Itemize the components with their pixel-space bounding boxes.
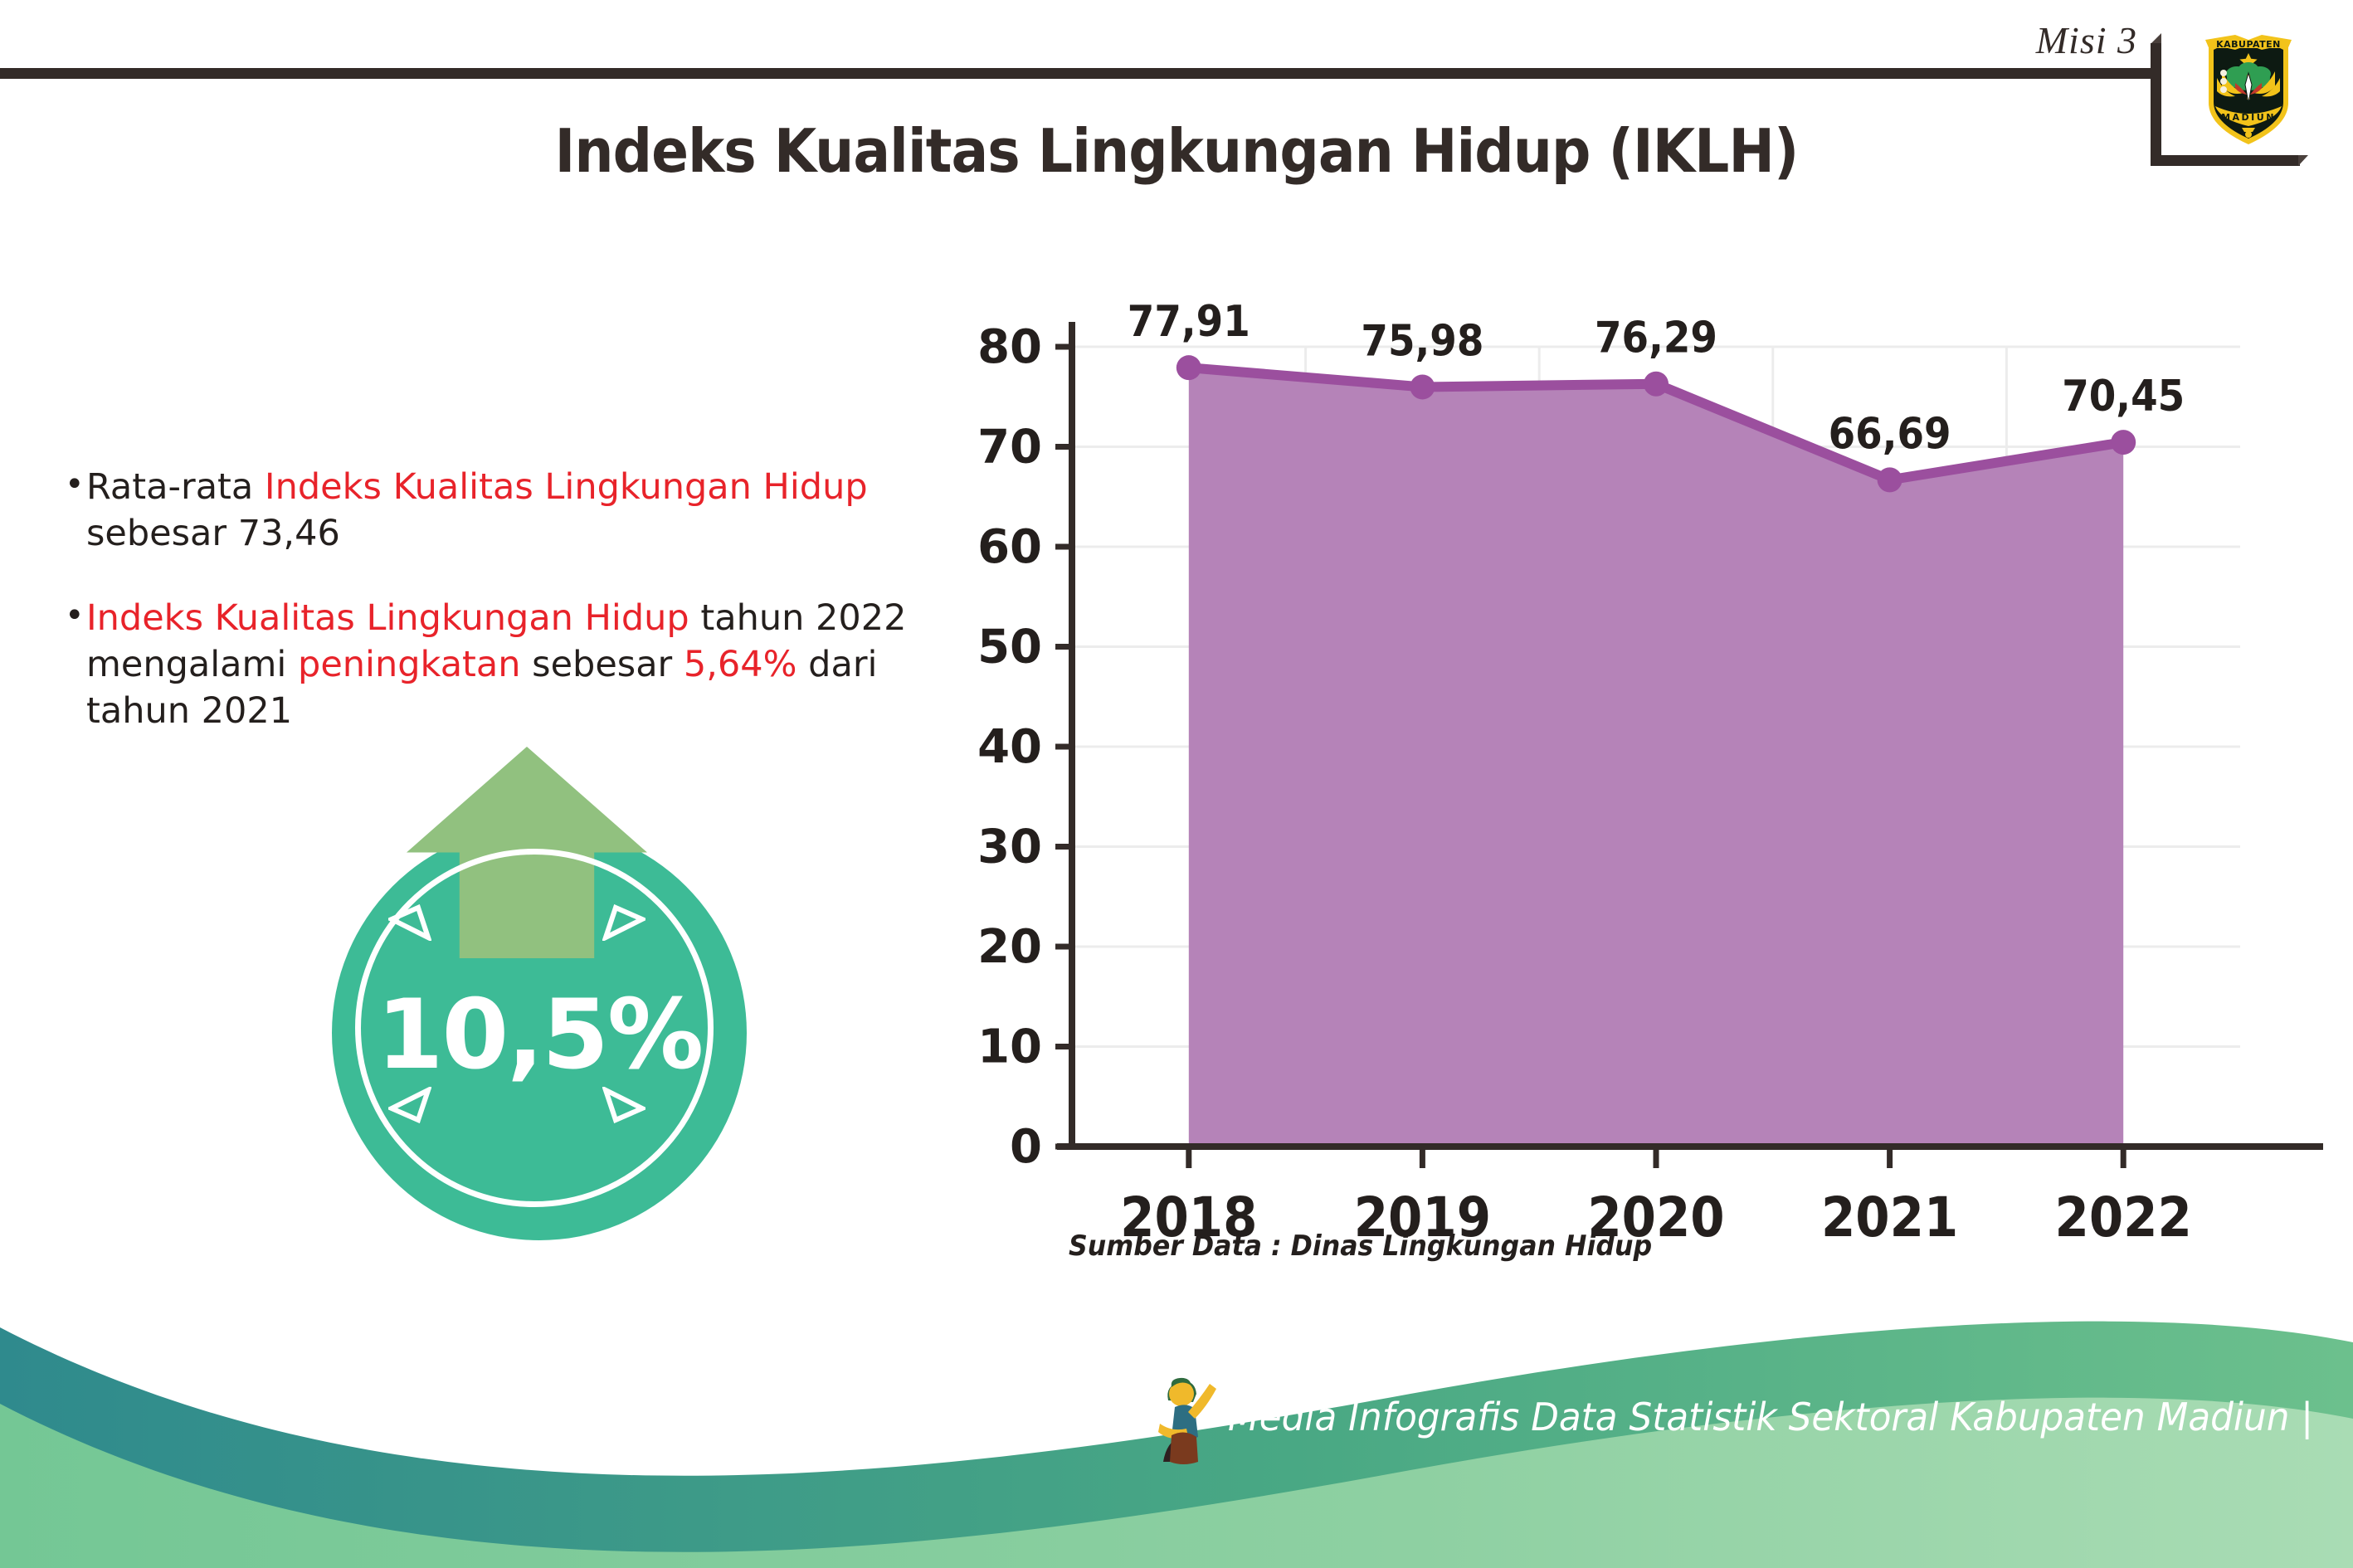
badge-tick-top-left bbox=[388, 904, 431, 941]
bracket-corner-bottom bbox=[2298, 155, 2308, 166]
svg-text:77,91: 77,91 bbox=[1128, 299, 1250, 347]
svg-text:20: 20 bbox=[979, 920, 1042, 974]
bullet-0-run-2: sebesar 73,46 bbox=[86, 513, 340, 554]
badge-tick-top-right bbox=[602, 904, 645, 941]
page-title: Indeks Kualitas Lingkungan Hidup (IKLH) bbox=[94, 116, 2258, 186]
badge-percentage-value: 10,5% bbox=[324, 979, 755, 1091]
chart-source-note: Sumber Data : Dinas Lingkungan Hidup bbox=[1069, 1230, 1652, 1263]
badge-tick-bottom-right bbox=[602, 1087, 645, 1123]
bullet-0-run-1: Indeks Kualitas Lingkungan Hidup bbox=[265, 466, 868, 508]
svg-text:75,98: 75,98 bbox=[1361, 315, 1483, 366]
svg-text:KABUPATEN: KABUPATEN bbox=[2216, 39, 2281, 50]
statistics-mascot-figure-icon bbox=[1147, 1369, 1226, 1468]
footer-caption: Media Infografis Data Statistik Sektoral… bbox=[1228, 1395, 2313, 1439]
increase-badge: 10,5% bbox=[324, 747, 772, 1211]
svg-text:10: 10 bbox=[979, 1020, 1042, 1074]
svg-text:30: 30 bbox=[979, 821, 1042, 874]
bullet-1-run-4: 5,64% bbox=[684, 644, 797, 685]
svg-text:70,45: 70,45 bbox=[2062, 371, 2185, 421]
svg-text:76,29: 76,29 bbox=[1595, 312, 1717, 363]
slide-canvas: Misi 3 KABUPATEN MADIUN bbox=[0, 0, 2353, 1568]
bullet-1-run-0: Indeks Kualitas Lingkungan Hidup bbox=[86, 597, 689, 639]
iklh-area-chart: 77,9175,9876,2966,6970,45010203040506070… bbox=[979, 299, 2323, 1294]
header-rule bbox=[0, 68, 2151, 79]
svg-text:2022: 2022 bbox=[2055, 1186, 2192, 1249]
svg-text:70: 70 bbox=[979, 421, 1042, 475]
list-item: Indeks Kualitas Lingkungan Hidup tahun 2… bbox=[65, 596, 986, 735]
svg-text:60: 60 bbox=[979, 520, 1042, 574]
svg-text:40: 40 bbox=[979, 720, 1042, 774]
list-item: Rata-rata Indeks Kualitas Lingkungan Hid… bbox=[65, 465, 986, 558]
svg-text:66,69: 66,69 bbox=[1829, 408, 1951, 459]
bullet-0-run-0: Rata-rata bbox=[86, 466, 265, 508]
svg-text:2021: 2021 bbox=[1821, 1186, 1958, 1249]
svg-text:80: 80 bbox=[979, 320, 1042, 374]
misi-label: Misi 3 bbox=[2036, 18, 2137, 62]
bullet-1-run-3: sebesar bbox=[521, 644, 684, 685]
svg-text:50: 50 bbox=[979, 621, 1042, 674]
bullet-1-run-2: peningkatan bbox=[298, 644, 520, 685]
badge-tick-bottom-left bbox=[388, 1087, 431, 1123]
bullet-list: Rata-rata Indeks Kualitas Lingkungan Hid… bbox=[65, 465, 986, 772]
svg-text:0: 0 bbox=[1010, 1120, 1042, 1174]
